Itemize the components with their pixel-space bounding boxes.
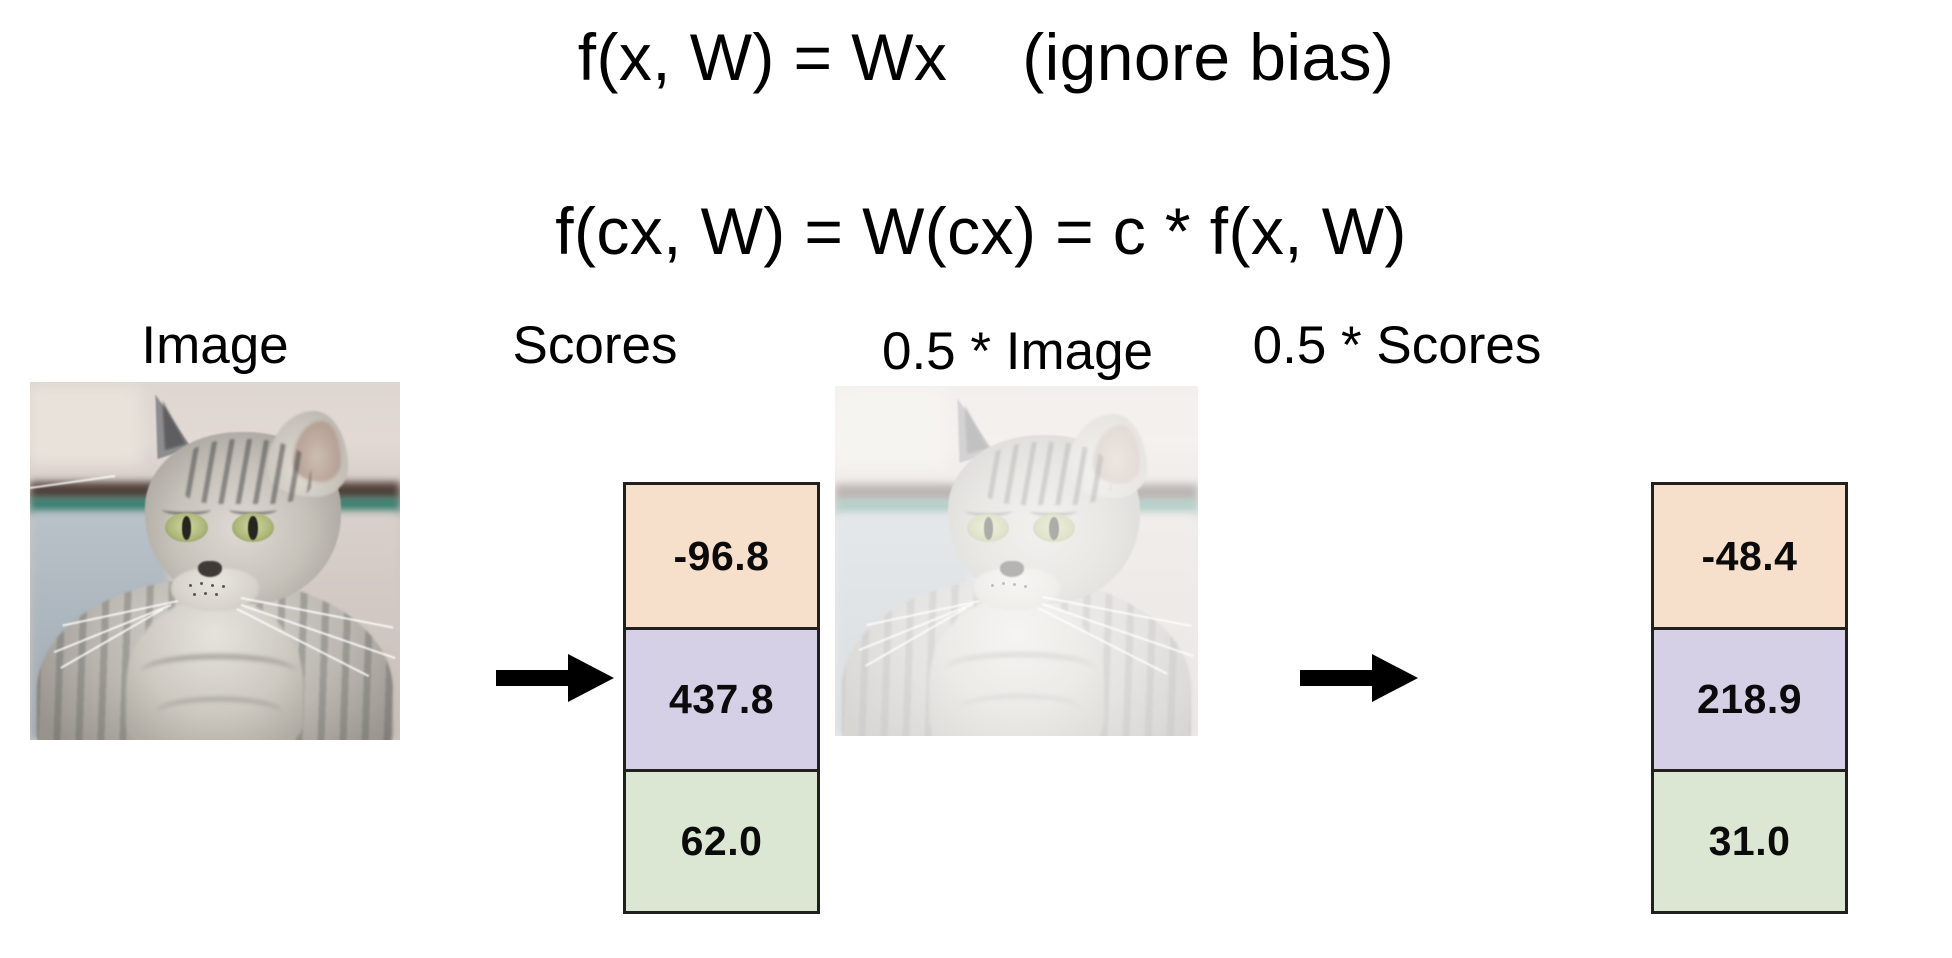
arrow-right-icon-right — [1300, 650, 1418, 706]
cat-whisker-dot — [204, 592, 207, 595]
cat-chest-stripe-1 — [141, 654, 296, 690]
score-cell-2: 437.8 — [626, 627, 817, 769]
equation-line-2: f(cx, W) = W(cx) = c * f(x, W) — [0, 198, 1952, 264]
cat-chest-stripe-2 — [156, 697, 282, 729]
cat-whisker-dot — [211, 584, 214, 587]
equation-line-1: f(x, W) = Wx (ignore bias) — [0, 24, 1952, 90]
score-cell-3: 62.0 — [626, 769, 817, 911]
cat-pupil-right — [248, 516, 258, 540]
cat-whisker-dot — [215, 593, 218, 596]
caption-image: Image — [30, 318, 400, 374]
cat-image-original — [30, 382, 400, 740]
cat-image-scaled — [835, 386, 1198, 736]
slide-canvas: f(x, W) = Wx (ignore bias) f(cx, W) = W(… — [0, 0, 1952, 958]
image-fade-overlay — [835, 386, 1198, 736]
score-cell-1: -48.4 — [1654, 485, 1845, 627]
arrow-right-icon-left — [496, 650, 614, 706]
scores-table-scaled: -48.4 218.9 31.0 — [1651, 482, 1848, 914]
cat-pupil-left — [182, 516, 192, 540]
cat-forehead-stripes — [178, 439, 311, 503]
score-cell-1: -96.8 — [626, 485, 817, 627]
photo-background-block — [30, 386, 141, 465]
scores-table-original: -96.8 437.8 62.0 — [623, 482, 820, 914]
score-cell-2: 218.9 — [1654, 627, 1845, 769]
caption-half-image: 0.5 * Image — [835, 324, 1200, 380]
caption-scores: Scores — [500, 318, 690, 374]
caption-half-scores: 0.5 * Scores — [1252, 318, 1542, 374]
score-cell-3: 31.0 — [1654, 769, 1845, 911]
